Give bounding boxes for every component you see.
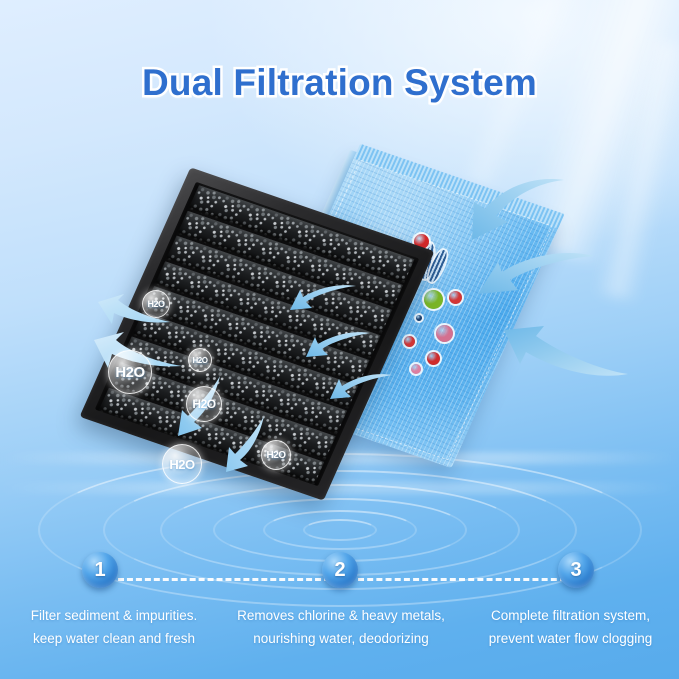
steps-section: 1 2 3 Filter sediment & impurities. keep…: [0, 552, 679, 679]
step-caption-2: Removes chlorine & heavy metals, nourish…: [225, 604, 457, 650]
h2o-bubble-icon: H2O: [108, 350, 152, 394]
step-caption-line: keep water clean and fresh: [0, 627, 228, 650]
step-number-label: 2: [334, 559, 345, 582]
h2o-bubble-icon: H2O: [188, 348, 212, 372]
step-number-1: 1: [82, 552, 118, 588]
step-number-2: 2: [322, 552, 358, 588]
step-number-label: 1: [94, 559, 105, 582]
step-number-3: 3: [558, 552, 594, 588]
step-caption-1: Filter sediment & impurities. keep water…: [0, 604, 228, 650]
step-caption-line: prevent water flow clogging: [462, 627, 679, 650]
h2o-bubble-icon: H2O: [186, 386, 222, 422]
step-caption-line: Filter sediment & impurities.: [0, 604, 228, 627]
h2o-bubble-icon: H2O: [261, 440, 291, 470]
step-number-label: 3: [570, 559, 581, 582]
step-caption-line: Complete filtration system,: [462, 604, 679, 627]
step-connector-dashes: [358, 578, 566, 581]
product-infographic-poster: Dual Filtration System: [0, 0, 679, 679]
step-caption-line: nourishing water, deodorizing: [225, 627, 457, 650]
step-caption-line: Removes chlorine & heavy metals,: [225, 604, 457, 627]
h2o-bubble-icon: H2O: [162, 444, 202, 484]
h2o-bubble-icon: H2O: [142, 290, 170, 318]
step-caption-3: Complete filtration system, prevent wate…: [462, 604, 679, 650]
step-connector-dashes: [118, 578, 330, 581]
